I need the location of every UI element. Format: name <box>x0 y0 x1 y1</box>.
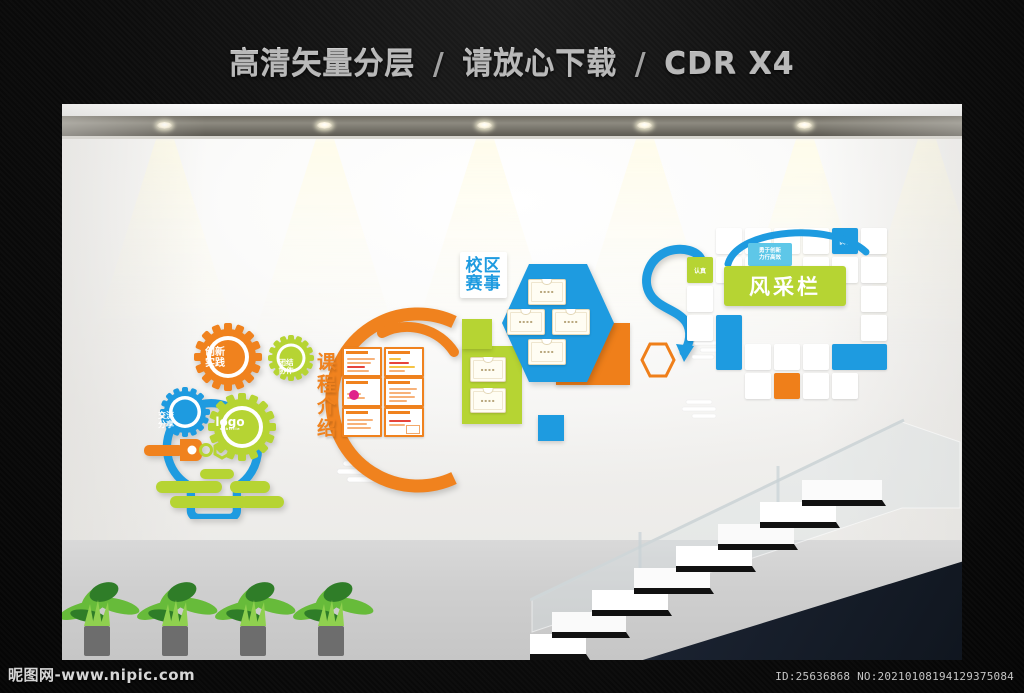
course-slide-thumb[interactable] <box>342 347 382 377</box>
slide-header <box>346 351 368 354</box>
certificate-dots: ▪▪▪▪ <box>519 319 534 324</box>
course-slide-thumb[interactable] <box>342 407 382 437</box>
staircase <box>530 404 962 660</box>
mosaic-tile <box>832 373 858 399</box>
slogan-line2: 力行高效 <box>759 255 781 261</box>
certificate-frame[interactable]: ▪▪▪▪ <box>528 339 566 365</box>
mosaic-tile-orange <box>774 373 800 399</box>
gear-label-line2: 分享 <box>158 421 174 430</box>
gear-logo-subtext: subtitle <box>220 428 240 432</box>
mosaic-tile <box>774 344 800 370</box>
certificate-tab <box>483 388 494 394</box>
certificate-tab <box>541 279 552 285</box>
slide-line <box>347 370 369 372</box>
slide-line <box>389 400 407 402</box>
certificate-dots: ▪▪▪▪ <box>564 319 579 324</box>
image-id-text: ID:25636868 NO:20210108194129375084 <box>775 670 1014 683</box>
certificate-tab <box>483 357 494 363</box>
mosaic-tile <box>745 373 771 399</box>
gear-label-line2: 协作 <box>279 367 294 375</box>
course-slide-thumb[interactable] <box>384 347 424 377</box>
slide-line <box>389 392 411 394</box>
slide-header <box>346 381 368 384</box>
gear-label-line1: 创新 <box>205 347 225 358</box>
certificate-frame[interactable]: ▪▪▪▪ <box>470 388 506 413</box>
slide-line <box>389 396 415 398</box>
slide-line <box>347 423 367 425</box>
course-section-title: 课程介绍 <box>312 352 339 440</box>
mosaic-tile-label: 认真 <box>687 257 713 283</box>
slide-line <box>389 388 417 390</box>
gear-label-tuanjie: 团结 协作 <box>273 354 299 380</box>
mosaic-tile-blue-wide <box>832 344 887 370</box>
potted-plant <box>135 578 219 656</box>
potted-plant <box>291 578 375 656</box>
slide-line <box>389 424 405 426</box>
mosaic-tile <box>745 344 771 370</box>
mosaic-tile <box>803 344 829 370</box>
certificate-dots: ▪▪▪▪ <box>540 289 555 294</box>
interior-scene-photo: 创新 实践 团结 协作 交流 分享 logo subtitle <box>62 104 962 660</box>
plant-row <box>62 564 402 660</box>
mosaic-tile-blue-bar <box>716 315 742 370</box>
slide-line <box>347 419 373 421</box>
potted-plant <box>62 578 141 656</box>
certificate-dots: ▪▪▪▪ <box>481 398 496 403</box>
mosaic-tile <box>861 315 887 341</box>
slide-header <box>388 351 410 354</box>
slide-line <box>389 362 409 364</box>
mosaic-tile <box>861 286 887 312</box>
certificate-tab <box>541 339 552 345</box>
slide-line <box>389 358 401 360</box>
slide-pie-chart <box>349 390 359 400</box>
competition-title-line2: 赛事 <box>466 275 502 293</box>
certificate-frame[interactable]: ▪▪▪▪ <box>470 357 506 382</box>
gear-label-line2: 实践 <box>205 358 225 369</box>
showcase-banner: 风采栏 <box>724 266 846 306</box>
slide-line <box>347 366 365 368</box>
gear-label-logo: logo subtitle <box>212 407 248 441</box>
gear-label-jiaoliu: 交流 分享 <box>152 407 180 435</box>
course-slide-thumb[interactable] <box>342 377 382 407</box>
mosaic-tile <box>803 373 829 399</box>
certificate-frame[interactable]: ▪▪▪▪ <box>528 279 566 305</box>
slide-line <box>389 366 415 368</box>
slide-header <box>388 381 410 384</box>
watermark-text: 昵图网-www.nipic.com <box>8 664 195 685</box>
showcase-banner-title: 风采栏 <box>749 271 821 301</box>
slide-header <box>346 411 368 414</box>
slide-header <box>388 411 410 414</box>
slide-line <box>389 370 405 372</box>
course-slide-thumb[interactable] <box>384 377 424 407</box>
certificate-dots: ▪▪▪▪ <box>540 349 555 354</box>
slide-line <box>347 427 371 429</box>
slide-box <box>406 425 420 434</box>
mosaic-tile <box>687 315 713 341</box>
mosaic-tile-renzhen: 认真 <box>687 257 713 283</box>
mosaic-tile <box>687 286 713 312</box>
certificate-dots: ▪▪▪▪ <box>481 367 496 372</box>
green-panel-small <box>462 319 492 349</box>
slide-line <box>389 420 411 422</box>
certificate-frame[interactable]: ▪▪▪▪ <box>507 309 545 335</box>
stair-steps <box>530 480 886 660</box>
certificate-tab <box>565 309 576 315</box>
wrench-icon <box>144 439 202 461</box>
certificate-tab <box>520 309 531 315</box>
course-slide-thumb[interactable] <box>384 407 424 437</box>
slide-line <box>347 362 371 364</box>
showcase-arc <box>722 222 872 266</box>
certificate-frame[interactable]: ▪▪▪▪ <box>552 309 590 335</box>
showcase-slogan-tab: 勇于创新 力行高效 <box>748 243 792 266</box>
potted-plant <box>213 578 297 656</box>
circle-icon <box>201 445 212 456</box>
hexagon-icon <box>640 341 676 379</box>
competition-title-line1: 校区 <box>466 257 502 275</box>
gear-label-chuangxin: 创新 实践 <box>198 341 232 375</box>
slide-line <box>347 358 375 360</box>
poster-stage: 高清矢量分层 / 请放心下载 / CDR X4 <box>0 0 1024 693</box>
